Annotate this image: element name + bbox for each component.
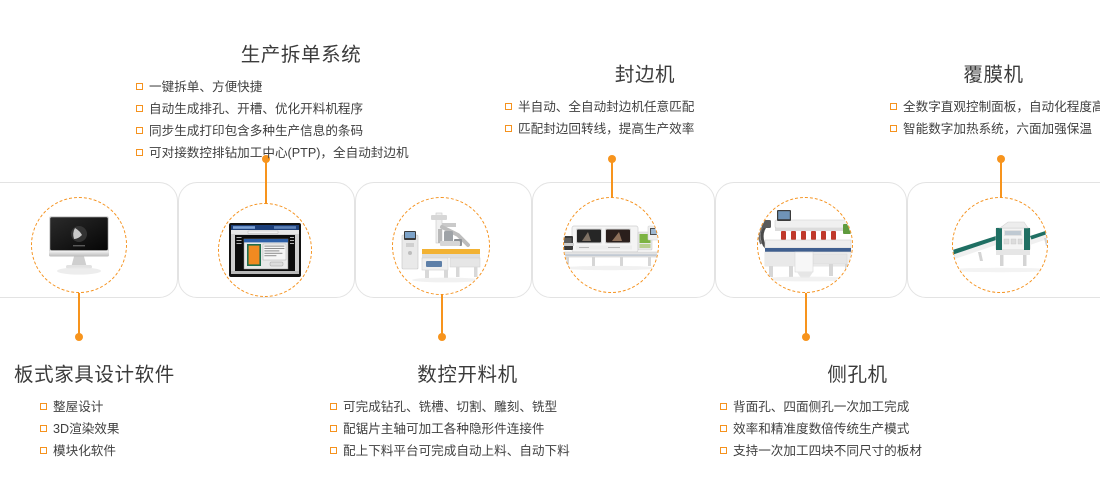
bullet-item: 背面孔、四面侧孔一次加工完成 (720, 396, 995, 418)
section-title-cnc-cutting-machine: 数控开料机 (330, 358, 605, 387)
desktop-monitor-icon (43, 212, 115, 278)
bullet-list-cnc-cutting-machine: 可完成钻孔、铣槽、切割、雕刻、铣型 配锯片主轴可加工各种隐形件连接件 配上下料平… (330, 396, 605, 462)
node-laminating[interactable] (952, 197, 1048, 293)
section-title-splitting-system: 生产拆单系统 (136, 38, 466, 67)
bullet-square-icon (720, 403, 727, 410)
text-block-side-hole-machine: 侧孔机 背面孔、四面侧孔一次加工完成 效率和精准度数倍传统生产模式 支持一次加工… (720, 358, 995, 462)
bullet-list-laminating-machine: 全数字直观控制面板，自动化程度高 智能数字加热系统，六面加强保温 (890, 96, 1100, 140)
bullet-list-edge-bander: 半自动、全自动封边机任意匹配 匹配封边回转线，提高生产效率 (505, 96, 785, 140)
connector-dot-laminating (997, 155, 1005, 163)
node-cnc-cutting[interactable] (392, 197, 490, 295)
bullet-square-icon (136, 149, 143, 156)
laminating-machine-icon (952, 214, 1048, 276)
node-splitting-system[interactable] (218, 203, 312, 297)
bullet-square-icon (40, 403, 47, 410)
bullet-item: 可对接数控排钻加工中心(PTP)，全自动封边机 (136, 142, 466, 164)
bullet-square-icon (136, 127, 143, 134)
bullet-item: 配上下料平台可完成自动上料、自动下料 (330, 440, 605, 462)
bullet-square-icon (720, 425, 727, 432)
bullet-item: 全数字直观控制面板，自动化程度高 (890, 96, 1100, 118)
bullet-square-icon (330, 447, 337, 454)
bullet-square-icon (505, 125, 512, 132)
side-drilling-machine-icon (757, 206, 853, 284)
section-title-design-software: 板式家具设计软件 (14, 358, 194, 387)
bullet-item: 可完成钻孔、铣槽、切割、雕刻、铣型 (330, 396, 605, 418)
bullet-item: 效率和精准度数倍传统生产模式 (720, 418, 995, 440)
connector-splitting-system (265, 160, 267, 204)
bullet-square-icon (890, 125, 897, 132)
connector-dot-design-software (75, 333, 83, 341)
connector-cnc-cutting (441, 292, 443, 336)
production-line-infographic: 生产拆单系统 一键拆单、方便快捷 自动生成排孔、开槽、优化开料机程序 同步生成打… (0, 0, 1100, 495)
edge-banding-machine-icon (563, 218, 659, 272)
bullet-item: 整屋设计 (40, 396, 194, 418)
bullet-square-icon (40, 425, 47, 432)
bullet-list-side-hole-machine: 背面孔、四面侧孔一次加工完成 效率和精准度数倍传统生产模式 支持一次加工四块不同… (720, 396, 995, 462)
bullet-item: 一键拆单、方便快捷 (136, 76, 466, 98)
bullet-square-icon (330, 425, 337, 432)
bullet-item: 支持一次加工四块不同尺寸的板材 (720, 440, 995, 462)
bullet-square-icon (136, 83, 143, 90)
bullet-square-icon (720, 447, 727, 454)
connector-dot-cnc-cutting (438, 333, 446, 341)
text-block-design-software: 板式家具设计软件 整屋设计 3D渲染效果 模块化软件 (14, 358, 194, 462)
connector-design-software (78, 292, 80, 336)
text-block-laminating-machine: 覆膜机 全数字直观控制面板，自动化程度高 智能数字加热系统，六面加强保温 (890, 58, 1100, 140)
section-title-side-hole-machine: 侧孔机 (720, 358, 995, 387)
bullet-item: 3D渲染效果 (40, 418, 194, 440)
bullet-item: 同步生成打印包含多种生产信息的条码 (136, 120, 466, 142)
bullet-square-icon (40, 447, 47, 454)
node-edge-bander[interactable] (563, 197, 659, 293)
bullet-square-icon (505, 103, 512, 110)
connector-dot-side-hole-drill (802, 333, 810, 341)
bullet-square-icon (890, 103, 897, 110)
text-block-splitting-system: 生产拆单系统 一键拆单、方便快捷 自动生成排孔、开槽、优化开料机程序 同步生成打… (136, 38, 466, 164)
bullet-square-icon (136, 105, 143, 112)
bullet-item: 配锯片主轴可加工各种隐形件连接件 (330, 418, 605, 440)
bullet-item: 半自动、全自动封边机任意匹配 (505, 96, 785, 118)
bullet-list-splitting-system: 一键拆单、方便快捷 自动生成排孔、开槽、优化开料机程序 同步生成打印包含多种生产… (136, 76, 466, 164)
section-title-edge-bander: 封边机 (505, 58, 785, 87)
connector-side-hole-drill (805, 292, 807, 336)
tablet-software-icon (228, 222, 302, 278)
connector-dot-edge-bander (608, 155, 616, 163)
bullet-item: 智能数字加热系统，六面加强保温 (890, 118, 1100, 140)
bullet-list-design-software: 整屋设计 3D渲染效果 模块化软件 (14, 396, 194, 462)
section-title-laminating-machine: 覆膜机 (890, 58, 1100, 87)
node-design-software[interactable] (31, 197, 127, 293)
bullet-square-icon (330, 403, 337, 410)
bullet-item: 模块化软件 (40, 440, 194, 462)
text-block-cnc-cutting-machine: 数控开料机 可完成钻孔、铣槽、切割、雕刻、铣型 配锯片主轴可加工各种隐形件连接件… (330, 358, 605, 462)
node-side-hole-drill[interactable] (757, 197, 853, 293)
text-block-edge-bander: 封边机 半自动、全自动封边机任意匹配 匹配封边回转线，提高生产效率 (505, 58, 785, 140)
bullet-item: 匹配封边回转线，提高生产效率 (505, 118, 785, 140)
cnc-nesting-machine-icon (398, 209, 484, 283)
bullet-item: 自动生成排孔、开槽、优化开料机程序 (136, 98, 466, 120)
